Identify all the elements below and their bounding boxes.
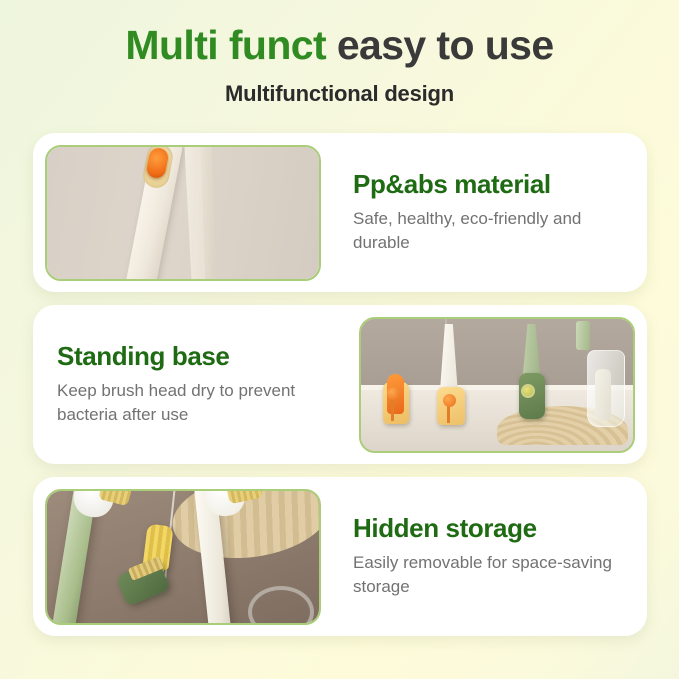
brush-pole-green-small — [576, 321, 590, 350]
feature-text-standing-base: Standing base Keep brush head dry to pre… — [33, 342, 347, 428]
feature-card-standing-base: Standing base Keep brush head dry to pre… — [33, 305, 647, 464]
product-photo-brush-handle — [45, 145, 321, 281]
product-photo-standing-bases — [359, 317, 635, 453]
feature-card-list: Pp&abs material Safe, healthy, eco-frien… — [33, 133, 647, 649]
photo-scene-standing-bases — [361, 319, 633, 451]
feature-body: Keep brush head dry to prevent bacteria … — [57, 379, 327, 427]
photo-scene-removable-heads — [47, 491, 319, 623]
product-photo-removable-heads — [45, 489, 321, 625]
feature-text-hidden-storage: Hidden storage Easily removable for spac… — [333, 514, 647, 600]
feature-heading: Standing base — [57, 342, 327, 371]
feature-text-pp-abs-material: Pp&abs material Safe, healthy, eco-frien… — [333, 170, 647, 256]
sink-drain — [248, 586, 314, 624]
feature-body: Easily removable for space-saving storag… — [353, 551, 623, 599]
feature-heading: Pp&abs material — [353, 170, 629, 199]
glass-bottle-inner — [595, 369, 611, 422]
page-title-green: Multi funct — [125, 22, 326, 68]
base-knob-orange-2 — [443, 394, 456, 407]
photo-scene-brush-handle — [47, 147, 319, 279]
page-title-dark: easy to use — [337, 22, 554, 68]
page-subtitle: Multifunctional design — [0, 81, 679, 107]
feature-heading: Hidden storage — [353, 514, 629, 543]
page-header: Multi funct easy to use Multifunctional … — [0, 0, 679, 107]
feature-card-pp-abs-material: Pp&abs material Safe, healthy, eco-frien… — [33, 133, 647, 292]
base-stem-1 — [391, 398, 394, 422]
page-title: Multi funct easy to use — [0, 22, 679, 69]
base-stem-2 — [447, 404, 450, 422]
feature-card-hidden-storage: Hidden storage Easily removable for spac… — [33, 477, 647, 636]
feature-body: Safe, healthy, eco-friendly and durable — [353, 207, 623, 255]
